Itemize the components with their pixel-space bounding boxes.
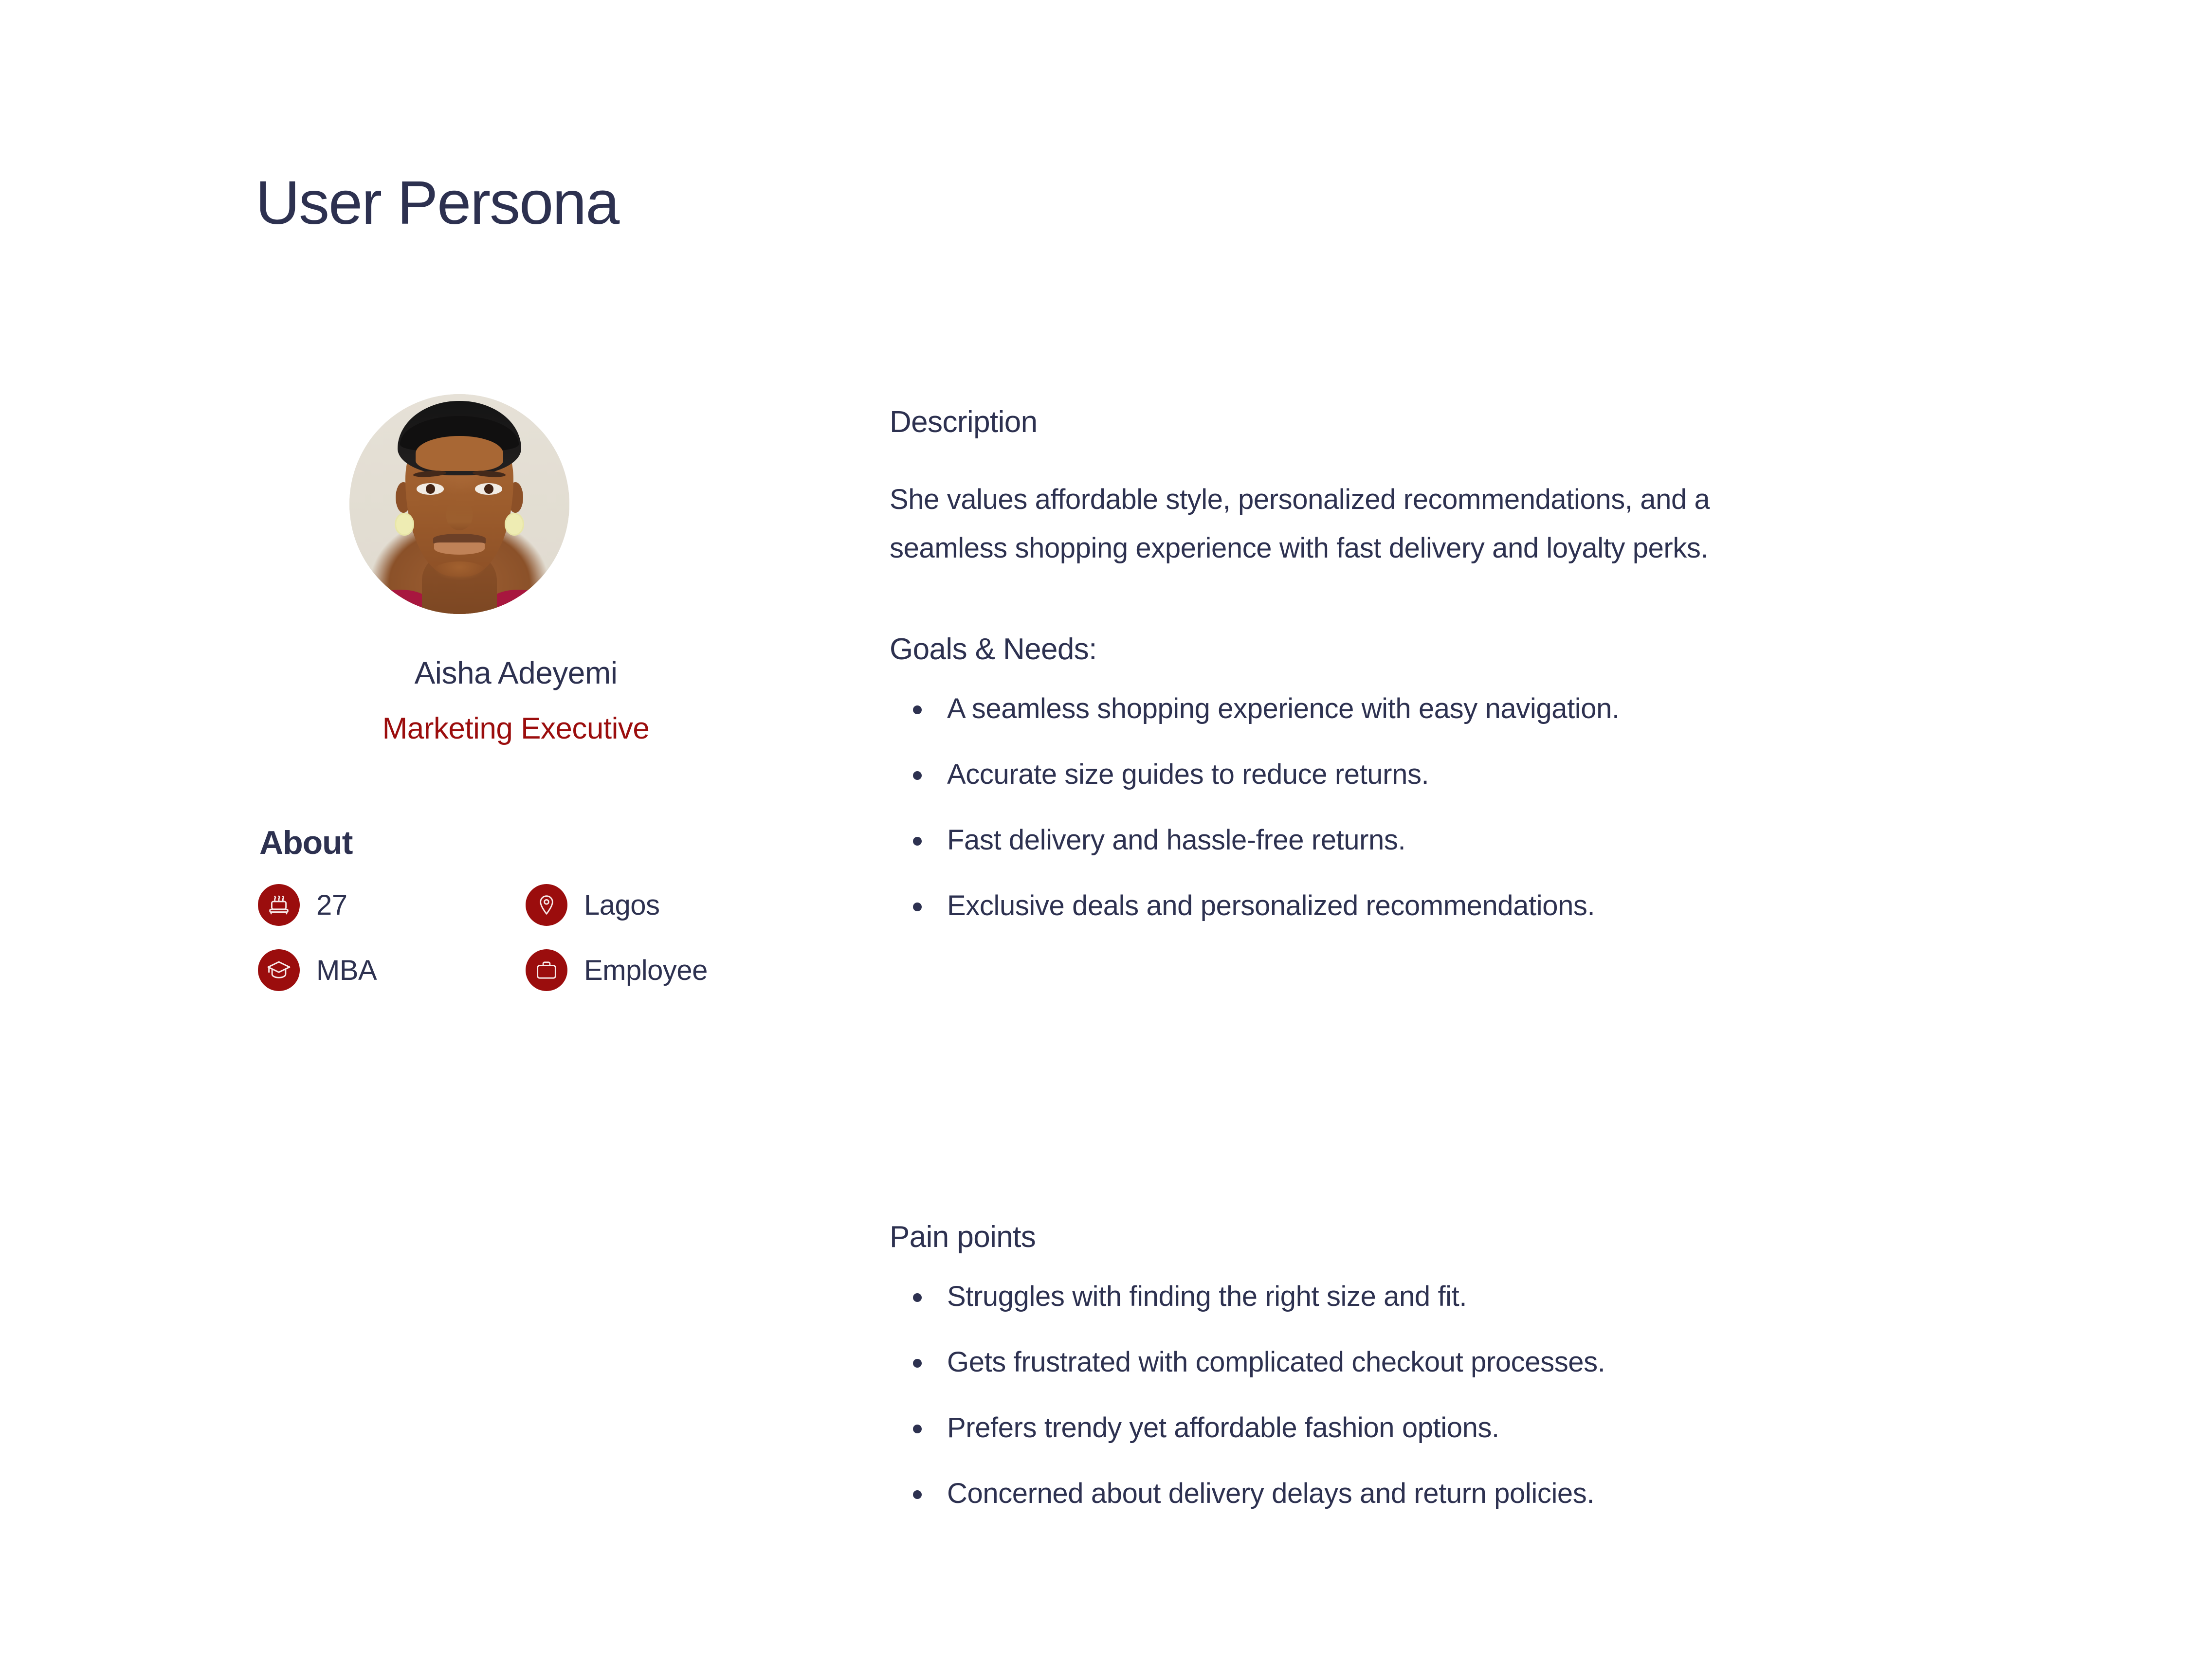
portrait-earring-left bbox=[395, 513, 414, 536]
about-item-age: 27 bbox=[258, 884, 526, 926]
location-pin-icon bbox=[526, 884, 567, 926]
description-heading: Description bbox=[890, 405, 2058, 439]
persona-role: Marketing Executive bbox=[258, 711, 774, 746]
goals-list: A seamless shopping experience with easy… bbox=[890, 695, 2058, 920]
persona-name: Aisha Adeyemi bbox=[258, 655, 774, 691]
about-value-location: Lagos bbox=[584, 889, 660, 921]
list-item: Accurate size guides to reduce returns. bbox=[947, 760, 2058, 789]
graduation-cap-icon bbox=[258, 949, 300, 991]
list-item: Fast delivery and hassle-free returns. bbox=[947, 826, 2058, 854]
about-heading: About bbox=[259, 824, 774, 862]
briefcase-icon bbox=[526, 949, 567, 991]
birthday-cake-icon bbox=[258, 884, 300, 926]
portrait-forehead bbox=[416, 436, 504, 471]
portrait-eye-left bbox=[417, 483, 444, 495]
pain-points-heading: Pain points bbox=[890, 1220, 2058, 1254]
about-value-education: MBA bbox=[316, 954, 377, 987]
list-item: A seamless shopping experience with easy… bbox=[947, 695, 2058, 723]
description-body: She values affordable style, personalize… bbox=[890, 475, 1717, 573]
persona-right-column: Description She values affordable style,… bbox=[890, 405, 2058, 920]
portrait-chin bbox=[433, 561, 486, 581]
portrait-earring-right bbox=[505, 513, 524, 536]
about-item-occupation: Employee bbox=[526, 949, 774, 991]
portrait-shoulder-right bbox=[490, 590, 547, 614]
about-item-location: Lagos bbox=[526, 884, 774, 926]
list-item: Exclusive deals and personalized recomme… bbox=[947, 892, 2058, 920]
page-title: User Persona bbox=[255, 169, 619, 237]
avatar bbox=[349, 394, 569, 614]
portrait-eye-right bbox=[475, 483, 503, 495]
pain-points-block: Pain points Struggles with finding the r… bbox=[890, 1220, 2058, 1508]
about-value-age: 27 bbox=[316, 889, 347, 921]
about-value-occupation: Employee bbox=[584, 954, 708, 987]
pain-points-list: Struggles with finding the right size an… bbox=[890, 1283, 2058, 1508]
list-item: Prefers trendy yet affordable fashion op… bbox=[947, 1414, 2058, 1442]
persona-left-column: Aisha Adeyemi Marketing Executive About … bbox=[258, 389, 774, 991]
about-grid: 27 Lagos MBA bbox=[258, 884, 774, 991]
about-item-education: MBA bbox=[258, 949, 526, 991]
portrait-shoulder-left bbox=[371, 590, 429, 614]
goals-heading: Goals & Needs: bbox=[890, 632, 2058, 667]
portrait-nose bbox=[446, 502, 473, 530]
portrait-image bbox=[349, 394, 569, 614]
list-item: Gets frustrated with complicated checkou… bbox=[947, 1348, 2058, 1376]
list-item: Struggles with finding the right size an… bbox=[947, 1283, 2058, 1311]
list-item: Concerned about delivery delays and retu… bbox=[947, 1480, 2058, 1508]
